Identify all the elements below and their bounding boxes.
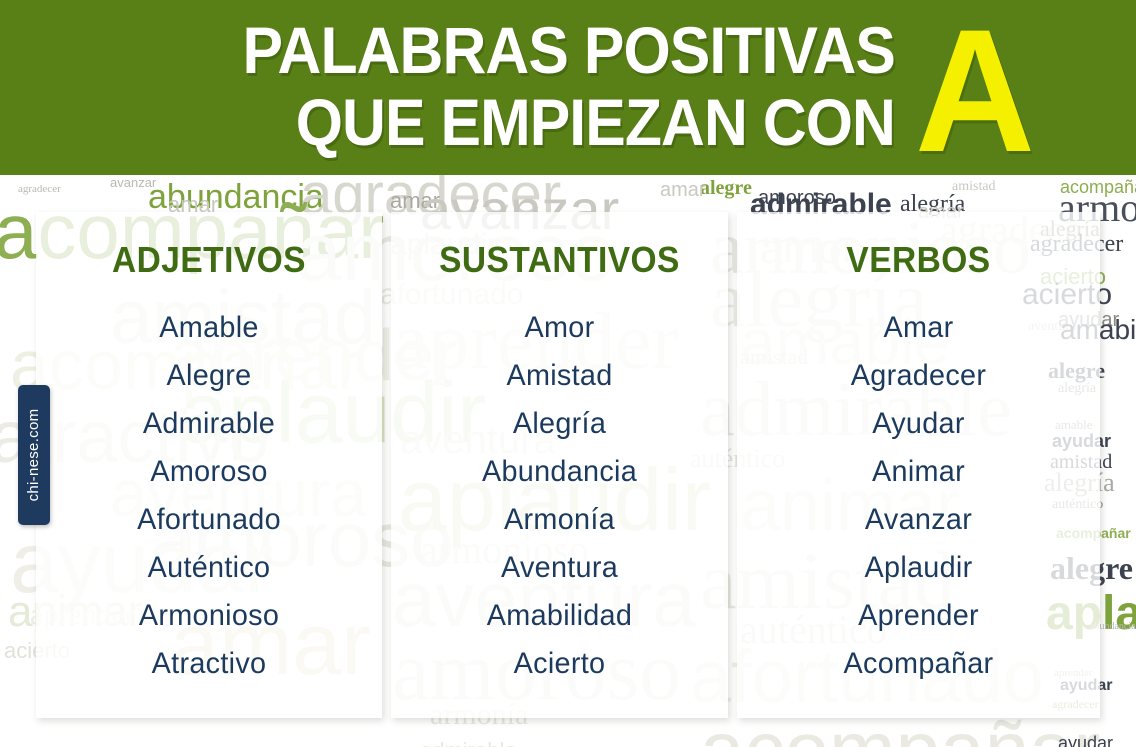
- highlight-letter: A: [915, 4, 1020, 175]
- word-item: Amor: [398, 304, 722, 352]
- word-list-verbos: AmarAgradecerAyudarAnimarAvanzarAplaudir…: [737, 304, 1100, 688]
- column-title-adjetivos: ADJETIVOS: [48, 240, 370, 280]
- word-item: Abundancia: [398, 448, 722, 496]
- header-band: PALABRAS POSITIVAS QUE EMPIEZAN CON A: [0, 0, 1136, 175]
- word-list-adjetivos: AmableAlegreAdmirableAmorosoAfortunadoAu…: [36, 304, 382, 688]
- word-item: Armonía: [398, 496, 722, 544]
- column-title-sustantivos: SUSTANTIVOS: [403, 240, 716, 280]
- word-item: Afortunado: [43, 496, 375, 544]
- word-item: Agradecer: [744, 352, 1092, 400]
- word-item: Amar: [744, 304, 1092, 352]
- word-item: Amable: [43, 304, 375, 352]
- column-card-verbos: VERBOS AmarAgradecerAyudarAnimarAvanzarA…: [737, 212, 1100, 718]
- word-item: Aprender: [744, 592, 1092, 640]
- word-item: Auténtico: [43, 544, 375, 592]
- infographic-canvas: abundanciaagradeceralegreamorosoadmirabl…: [0, 0, 1136, 747]
- word-item: Acompañar: [744, 640, 1092, 688]
- word-item: Admirable: [43, 400, 375, 448]
- page-title-line-2: QUE EMPIEZAN CON: [72, 86, 895, 158]
- word-item: Animar: [744, 448, 1092, 496]
- word-item: Armonioso: [43, 592, 375, 640]
- word-list-sustantivos: AmorAmistadAlegríaAbundanciaArmoníaAvent…: [391, 304, 728, 688]
- word-item: Avanzar: [744, 496, 1092, 544]
- word-item: Amoroso: [43, 448, 375, 496]
- column-title-verbos: VERBOS: [750, 240, 1088, 280]
- word-item: Amistad: [398, 352, 722, 400]
- word-item: Aplaudir: [744, 544, 1092, 592]
- word-item: Alegre: [43, 352, 375, 400]
- word-item: Acierto: [398, 640, 722, 688]
- word-item: Aventura: [398, 544, 722, 592]
- word-item: Alegría: [398, 400, 722, 448]
- column-card-adjetivos: ADJETIVOS AmableAlegreAdmirableAmorosoAf…: [36, 212, 382, 718]
- word-item: Ayudar: [744, 400, 1092, 448]
- site-badge-label: chi-nese.com: [18, 385, 50, 525]
- site-badge[interactable]: chi-nese.com: [18, 385, 50, 525]
- column-card-sustantivos: SUSTANTIVOS AmorAmistadAlegríaAbundancia…: [391, 212, 728, 718]
- page-title-line-1: PALABRAS POSITIVAS: [72, 14, 895, 86]
- word-item: Atractivo: [43, 640, 375, 688]
- page-title: PALABRAS POSITIVAS QUE EMPIEZAN CON: [72, 14, 895, 158]
- word-item: Amabilidad: [398, 592, 722, 640]
